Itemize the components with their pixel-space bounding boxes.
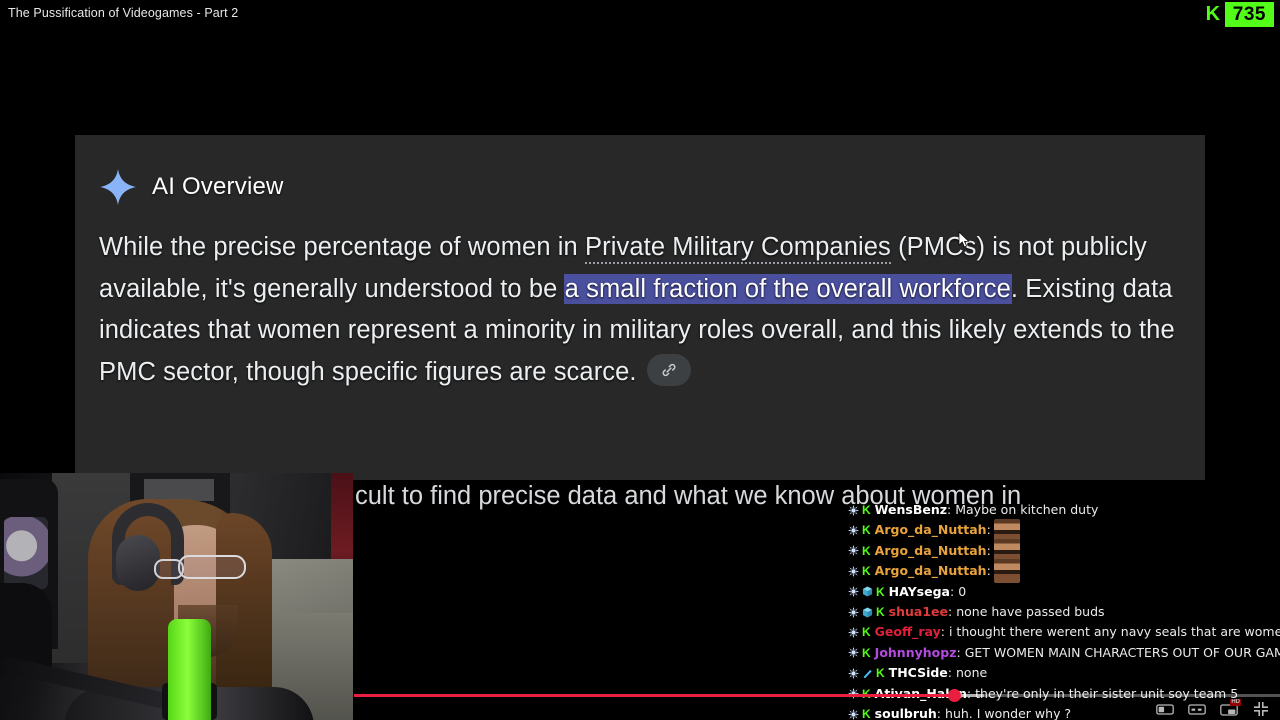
video-title: The Pussification of Videogames - Part 2 xyxy=(8,6,238,20)
chat-message: KTHCSide:none xyxy=(848,663,1280,683)
chat-colon: : xyxy=(950,582,954,602)
chat-emote xyxy=(994,559,1020,583)
settings-icon[interactable] xyxy=(1154,700,1176,718)
kick-badge-icon: K xyxy=(876,663,885,683)
chat-message: KWensBenz:Maybe on kitchen duty xyxy=(848,500,1280,520)
webcam-shelf-item xyxy=(144,479,214,501)
chat-message-text: none have passed buds xyxy=(956,602,1104,622)
kick-badge-icon: K xyxy=(862,704,871,720)
ai-text-dotted-term[interactable]: Private Military Companies xyxy=(585,233,891,264)
chat-colon: : xyxy=(937,704,941,720)
chat-message-text: 0 xyxy=(958,582,966,602)
kick-logo-icon: K xyxy=(1201,2,1225,27)
chat-message-text: GET WOMEN MAIN CHARACTERS OUT OF OUR GAM… xyxy=(965,643,1280,663)
chat-message: KArgo_da_Nuttah: xyxy=(848,520,1280,540)
ai-overview-panel: AI Overview While the precise percentage… xyxy=(75,135,1205,480)
player-controls-right: HD xyxy=(1154,700,1272,718)
kick-badge-icon: K xyxy=(876,582,885,602)
chat-colon: : xyxy=(987,541,991,561)
streamer-webcam xyxy=(0,473,353,720)
ai-overview-text: While the precise percentage of women in… xyxy=(75,206,1205,393)
kick-badge-icon: K xyxy=(862,500,871,520)
ai-overview-header: AI Overview xyxy=(75,135,1205,206)
chat-username[interactable]: HAYsega xyxy=(889,582,950,602)
exit-fullscreen-icon[interactable] xyxy=(1250,700,1272,718)
chat-colon: : xyxy=(947,500,951,520)
chat-colon: : xyxy=(948,602,952,622)
chat-colon: : xyxy=(956,643,960,663)
chat-colon: : xyxy=(941,622,945,642)
video-progress-bar[interactable] xyxy=(354,694,1280,697)
kick-badge-icon: K xyxy=(862,541,871,561)
chat-message: KArgo_da_Nuttah: xyxy=(848,561,1280,581)
chat-username[interactable]: Argo_da_Nuttah xyxy=(875,561,987,581)
chat-username[interactable]: Geoff_ray xyxy=(875,622,941,642)
chat-username[interactable]: Argo_da_Nuttah xyxy=(875,541,987,561)
mouse-cursor xyxy=(958,231,970,249)
progress-played xyxy=(354,694,954,697)
webcam-headphone-earcup xyxy=(116,535,160,591)
chat-message: Kshua1ee:none have passed buds xyxy=(848,602,1280,622)
chat-username[interactable]: Argo_da_Nuttah xyxy=(875,520,987,540)
chat-colon: : xyxy=(987,561,991,581)
hd-badge: HD xyxy=(1230,699,1241,706)
chat-message-text: none xyxy=(956,663,987,683)
webcam-shirt-graphic xyxy=(4,517,48,589)
ai-overview-title: AI Overview xyxy=(152,173,284,201)
chat-message-text: Maybe on kitchen duty xyxy=(955,500,1098,520)
viewer-count: 735 xyxy=(1225,2,1274,27)
link-icon[interactable] xyxy=(647,354,691,386)
chat-message: KGeoff_ray:i thought there werent any na… xyxy=(848,622,1280,642)
kick-badge-icon: K xyxy=(862,520,871,540)
chat-message: KJohnnyhopz:GET WOMEN MAIN CHARACTERS OU… xyxy=(848,643,1280,663)
kick-viewer-badge: K 735 xyxy=(1201,2,1274,27)
webcam-green-microphone xyxy=(168,619,211,720)
kick-badge-icon: K xyxy=(862,622,871,642)
webcam-glasses-right-lens xyxy=(178,555,246,579)
chat-username[interactable]: Johnnyhopz xyxy=(875,643,957,663)
chat-username[interactable]: shua1ee xyxy=(889,602,948,622)
chat-username[interactable]: soulbruh xyxy=(875,704,937,720)
chat-message-text: i thought there werent any navy seals th… xyxy=(949,622,1280,642)
miniplayer-icon[interactable]: HD xyxy=(1218,700,1240,718)
chat-username[interactable]: WensBenz xyxy=(875,500,947,520)
kick-badge-icon: K xyxy=(876,602,885,622)
ai-text-part-1: While the precise percentage of women in xyxy=(99,233,585,261)
kick-badge-icon: K xyxy=(862,643,871,663)
subtitles-icon[interactable] xyxy=(1186,700,1208,718)
chat-message-text: huh. I wonder why ? xyxy=(945,704,1071,720)
chat-colon: : xyxy=(948,663,952,683)
progress-scrubber-handle[interactable] xyxy=(948,689,961,702)
stream-fullscreen-view: The Pussification of Videogames - Part 2… xyxy=(0,0,1280,720)
kick-badge-icon: K xyxy=(862,561,871,581)
chat-overlay[interactable]: KWensBenz:Maybe on kitchen dutyKArgo_da_… xyxy=(848,500,1280,720)
webcam-glasses-left-lens xyxy=(154,559,184,579)
sparkle-icon xyxy=(99,168,137,206)
chat-message: KArgo_da_Nuttah: xyxy=(848,541,1280,561)
chat-username[interactable]: THCSide xyxy=(889,663,948,683)
chat-message: KHAYsega:0 xyxy=(848,582,1280,602)
chat-colon: : xyxy=(987,520,991,540)
ai-text-selection[interactable]: a small fraction of the overall workforc… xyxy=(565,275,1011,303)
